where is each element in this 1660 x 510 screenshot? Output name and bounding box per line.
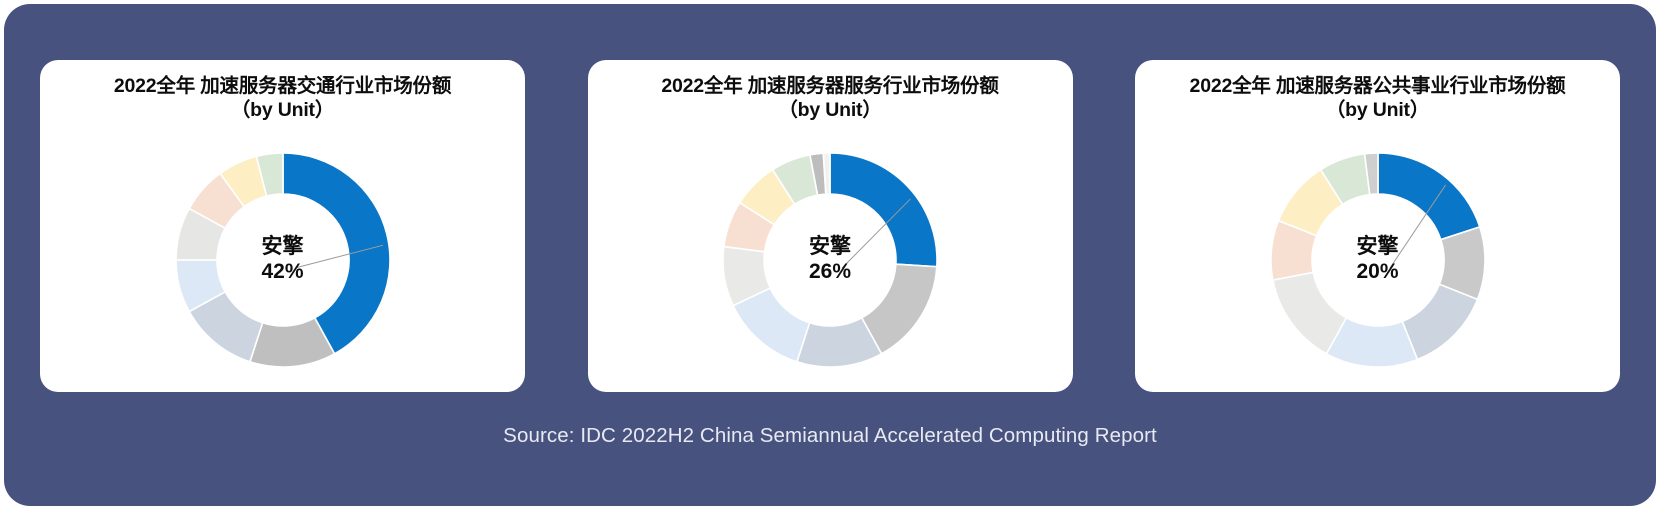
chart-title-line2: （by Unit）: [114, 98, 451, 122]
chart-title-traffic: 2022全年 加速服务器交通行业市场份额 （by Unit）: [114, 74, 451, 123]
donut-slice[interactable]: [1378, 153, 1480, 240]
donut-svg: [158, 135, 408, 385]
donut-chart-services: 安擎 26%: [705, 135, 955, 385]
chart-title-line2: （by Unit）: [661, 98, 998, 122]
chart-title-line1: 2022全年 加速服务器服务行业市场份额: [661, 74, 998, 98]
source-note: Source: IDC 2022H2 China Semiannual Acce…: [0, 424, 1660, 448]
donut-slice[interactable]: [830, 153, 937, 267]
donut-svg: [705, 135, 955, 385]
donut-svg: [1253, 135, 1503, 385]
chart-card-public-utilities: 2022全年 加速服务器公共事业行业市场份额 （by Unit） 安擎 20%: [1135, 60, 1620, 392]
donut-chart-traffic: 安擎 42%: [158, 135, 408, 385]
chart-title-services: 2022全年 加速服务器服务行业市场份额 （by Unit）: [661, 74, 998, 123]
chart-card-row: 2022全年 加速服务器交通行业市场份额 （by Unit） 安擎 42% 20…: [40, 60, 1620, 392]
chart-title-line1: 2022全年 加速服务器交通行业市场份额: [114, 74, 451, 98]
slide-root: 2022全年 加速服务器交通行业市场份额 （by Unit） 安擎 42% 20…: [0, 0, 1660, 510]
chart-card-traffic: 2022全年 加速服务器交通行业市场份额 （by Unit） 安擎 42%: [40, 60, 525, 392]
chart-card-services: 2022全年 加速服务器服务行业市场份额 （by Unit） 安擎 26%: [588, 60, 1073, 392]
chart-title-line2: （by Unit）: [1190, 98, 1566, 122]
chart-title-public-utilities: 2022全年 加速服务器公共事业行业市场份额 （by Unit）: [1190, 74, 1566, 123]
donut-chart-public-utilities: 安擎 20%: [1253, 135, 1503, 385]
chart-title-line1: 2022全年 加速服务器公共事业行业市场份额: [1190, 74, 1566, 98]
